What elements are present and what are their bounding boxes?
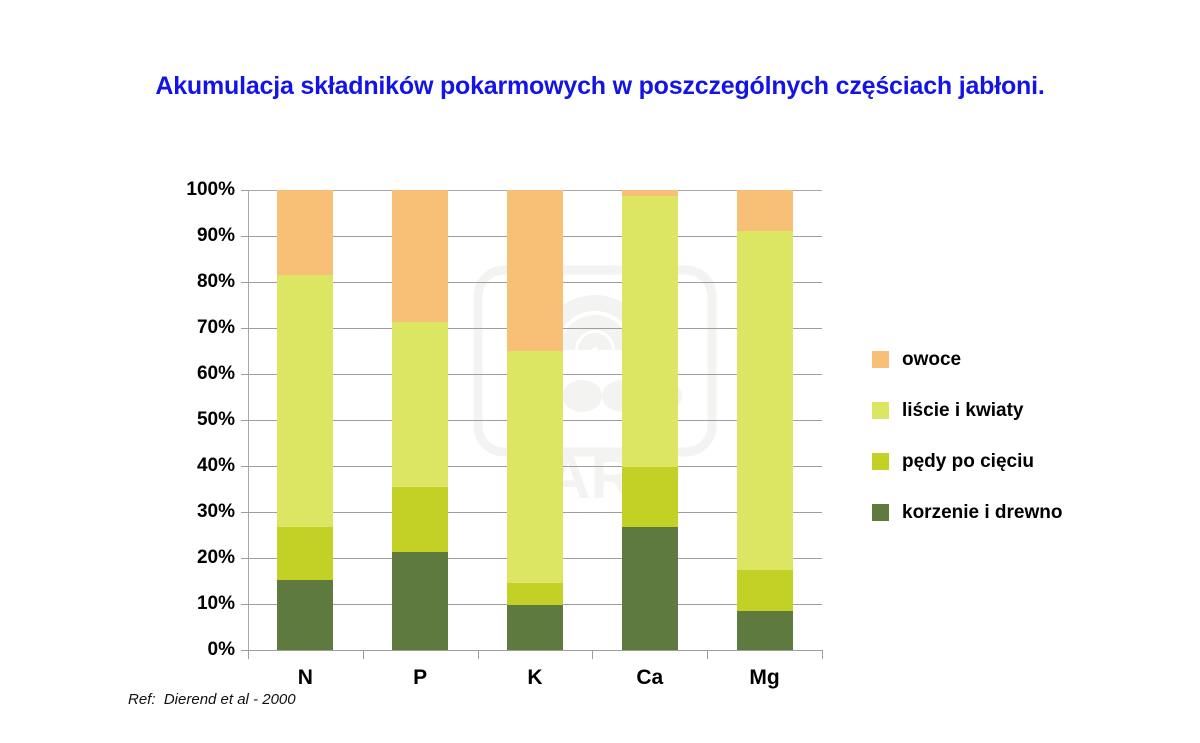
legend-swatch-icon (872, 402, 889, 419)
legend-item[interactable]: pędy po cięciu (872, 436, 1132, 487)
bar-segment[interactable] (622, 467, 678, 527)
bar-segment[interactable] (507, 351, 563, 583)
bar-segment[interactable] (277, 580, 333, 650)
x-axis-tick-label-k: K (478, 666, 593, 690)
page-title: Akumulacja składników pokarmowych w posz… (0, 72, 1200, 101)
x-tickmark (707, 651, 708, 659)
x-axis-tick-label-ca: Ca (592, 666, 707, 690)
y-axis-tick-label: 10% (155, 593, 235, 615)
legend-item-label: owoce (902, 349, 961, 371)
y-tickmark-90 (241, 236, 248, 237)
y-tickmark-10 (241, 604, 248, 605)
legend-swatch-icon (872, 453, 889, 470)
legend: owoceliście i kwiatypędy po cięciukorzen… (872, 334, 1132, 538)
legend-item[interactable]: owoce (872, 334, 1132, 385)
y-axis-tick-label: 0% (155, 639, 235, 661)
bar-segment[interactable] (277, 190, 333, 275)
x-tickmark (478, 651, 479, 659)
gridline-0 (248, 650, 822, 651)
bar-segment[interactable] (392, 190, 448, 322)
legend-item[interactable]: liście i kwiaty (872, 385, 1132, 436)
y-tickmark-30 (241, 512, 248, 513)
legend-item-label: pędy po cięciu (902, 451, 1034, 473)
y-tickmark-80 (241, 282, 248, 283)
x-axis-tick-label-n: N (248, 666, 363, 690)
legend-swatch-icon (872, 504, 889, 521)
bar-column-k[interactable] (507, 190, 563, 650)
bar-segment[interactable] (392, 487, 448, 552)
y-tickmark-0 (241, 650, 248, 651)
legend-item-label: korzenie i drewno (902, 502, 1062, 524)
bar-column-p[interactable] (392, 190, 448, 650)
bar-segment[interactable] (392, 552, 448, 650)
y-tickmark-20 (241, 558, 248, 559)
y-tickmark-100 (241, 190, 248, 191)
y-tickmark-40 (241, 466, 248, 467)
legend-item[interactable]: korzenie i drewno (872, 487, 1132, 538)
y-axis-tick-label: 40% (155, 455, 235, 477)
plot-area (248, 190, 822, 650)
x-tickmark (592, 651, 593, 659)
reference-footnote: Ref: Dierend et al - 2000 (128, 691, 296, 708)
y-axis-tick-label: 50% (155, 409, 235, 431)
bar-segment[interactable] (622, 527, 678, 650)
bar-segment[interactable] (737, 611, 793, 650)
x-axis-tick-label-mg: Mg (707, 666, 822, 690)
x-axis-tick-label-p: P (363, 666, 478, 690)
bar-column-n[interactable] (277, 190, 333, 650)
bar-segment[interactable] (622, 196, 678, 467)
y-axis-tick-label: 90% (155, 225, 235, 247)
legend-swatch-icon (872, 351, 889, 368)
bar-segment[interactable] (622, 190, 678, 196)
bar-segment[interactable] (737, 570, 793, 611)
y-axis-tick-label: 70% (155, 317, 235, 339)
bar-segment[interactable] (507, 605, 563, 650)
bar-segment[interactable] (737, 231, 793, 570)
y-axis-tick-label: 100% (155, 179, 235, 201)
y-axis-tick-label: 80% (155, 271, 235, 293)
bar-segment[interactable] (507, 190, 563, 351)
bar-segment[interactable] (277, 527, 333, 579)
y-axis-tick-label: 60% (155, 363, 235, 385)
bar-column-mg[interactable] (737, 190, 793, 650)
bar-segment[interactable] (277, 275, 333, 527)
bar-segment[interactable] (737, 190, 793, 231)
y-axis-tick-label: 20% (155, 547, 235, 569)
bar-segment[interactable] (392, 322, 448, 487)
bar-segment[interactable] (507, 583, 563, 605)
y-tickmark-70 (241, 328, 248, 329)
y-axis-labels: 0%10%20%30%40%50%60%70%80%90%100% (155, 190, 235, 650)
y-axis-tick-label: 30% (155, 501, 235, 523)
x-tickmark (248, 651, 249, 659)
legend-item-label: liście i kwiaty (902, 400, 1023, 422)
bar-column-ca[interactable] (622, 190, 678, 650)
x-tickmark (363, 651, 364, 659)
y-tickmark-60 (241, 374, 248, 375)
y-tickmark-50 (241, 420, 248, 421)
x-tickmark (822, 651, 823, 659)
